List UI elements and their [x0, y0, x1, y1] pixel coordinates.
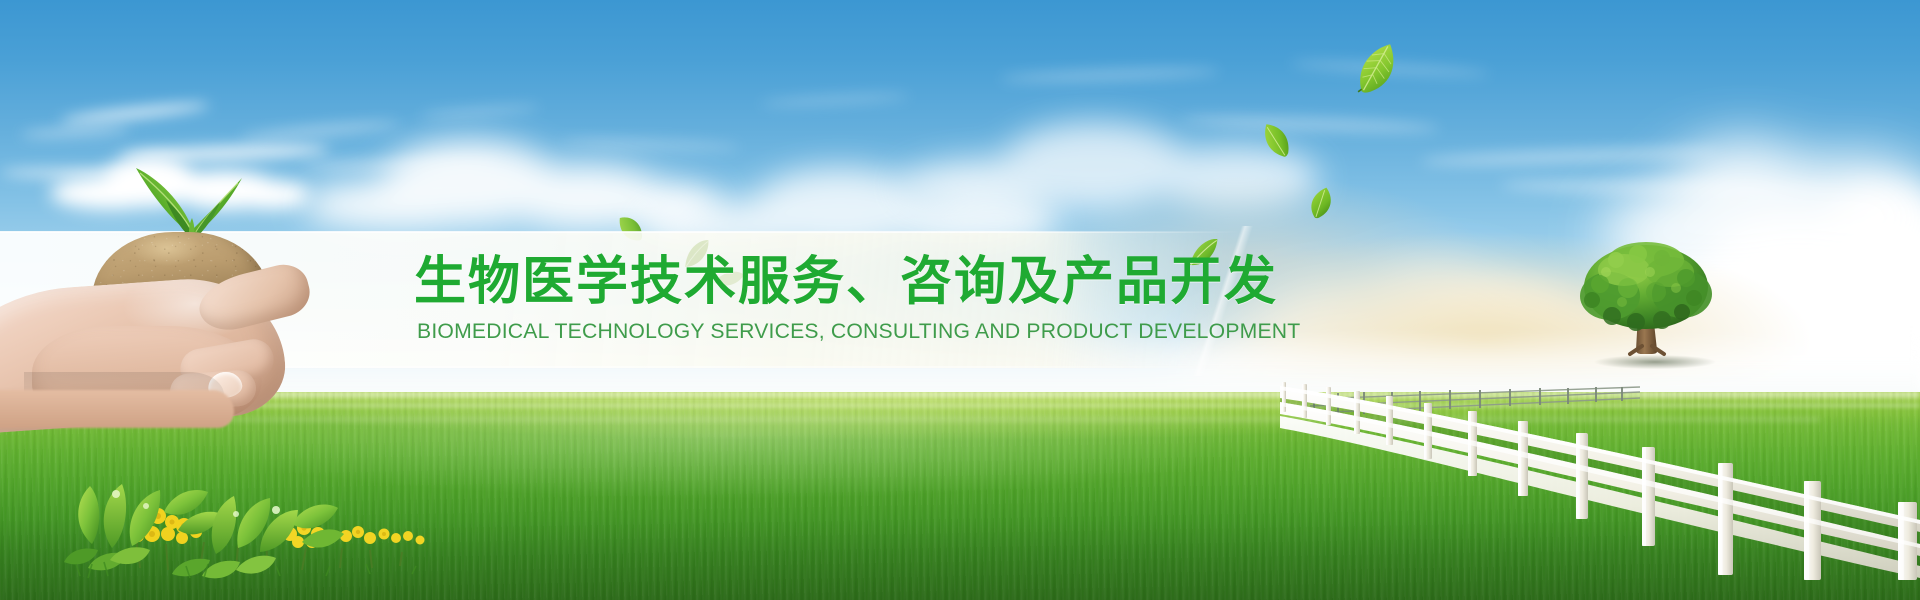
flower-cluster: [340, 526, 425, 545]
white-rail-fence-icon: [1280, 380, 1920, 580]
page-title: 生物医学技术服务、咨询及产品开发: [414, 253, 1278, 311]
plant-left: [64, 484, 222, 570]
wrist: [0, 390, 234, 428]
oak-tree-icon: [1566, 242, 1726, 362]
page-subtitle: BIOMEDICAL TECHNOLOGY SERVICES, CONSULTI…: [417, 318, 1300, 344]
hand-holding-seedling-icon: [0, 176, 344, 428]
hero-banner: 生物医学技术服务、咨询及产品开发 BIOMEDICAL TECHNOLOGY S…: [0, 0, 1920, 600]
yellow-flower-plants-icon: [40, 450, 460, 600]
